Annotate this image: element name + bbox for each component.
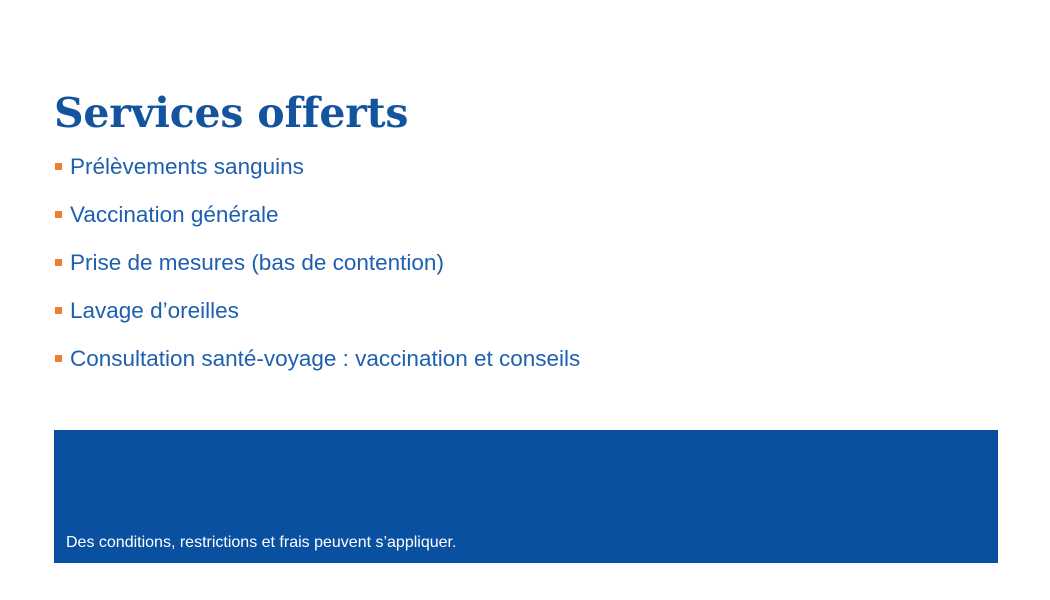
disclaimer-text: Des conditions, restrictions et frais pe… — [66, 532, 456, 554]
square-bullet-icon — [55, 259, 62, 266]
square-bullet-icon — [55, 307, 62, 314]
list-item: Prise de mesures (bas de contention) — [54, 239, 954, 287]
square-bullet-icon — [55, 355, 62, 362]
list-item-label: Lavage d’oreilles — [70, 297, 239, 325]
list-item-label: Vaccination générale — [70, 201, 278, 229]
list-item-label: Consultation santé-voyage : vaccination … — [70, 345, 580, 373]
list-item-label: Prise de mesures (bas de contention) — [70, 249, 444, 277]
square-bullet-icon — [55, 163, 62, 170]
list-item-label: Prélèvements sanguins — [70, 153, 304, 181]
list-item: Lavage d’oreilles — [54, 287, 954, 335]
footer-banner: Des conditions, restrictions et frais pe… — [54, 430, 998, 563]
list-item: Consultation santé-voyage : vaccination … — [54, 335, 954, 383]
page-title: Services offerts — [54, 89, 408, 137]
square-bullet-icon — [55, 211, 62, 218]
list-item: Vaccination générale — [54, 191, 954, 239]
list-item: Prélèvements sanguins — [54, 143, 954, 191]
slide-canvas: Services offerts Prélèvements sanguins V… — [0, 0, 1050, 600]
services-bullet-list: Prélèvements sanguins Vaccination généra… — [54, 143, 954, 383]
